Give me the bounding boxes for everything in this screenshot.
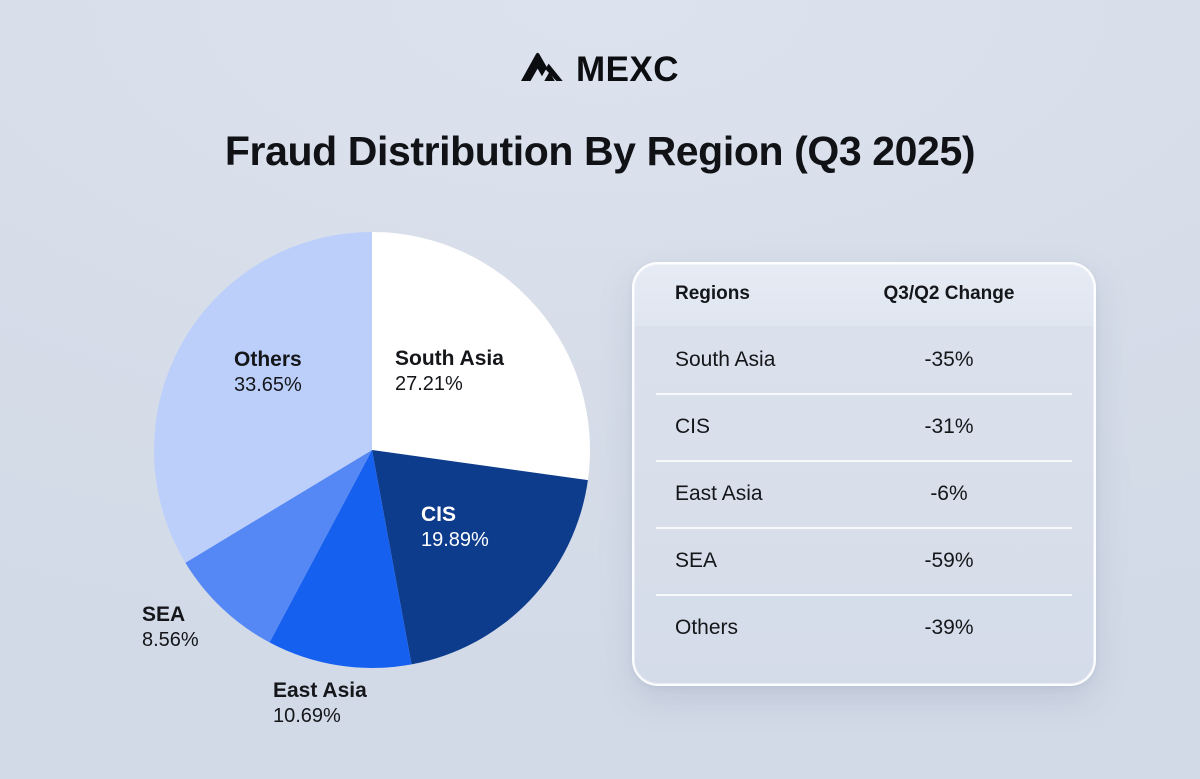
brand-wordmark: MEXC bbox=[576, 52, 679, 87]
pie-label-south-asia: South Asia 27.21% bbox=[395, 346, 504, 396]
table-column-header-regions: Regions bbox=[632, 283, 846, 305]
table-column-header-change: Q3/Q2 Change bbox=[846, 283, 1052, 305]
table-cell-change: -59% bbox=[846, 549, 1052, 573]
pie-label-east-asia-name: East Asia bbox=[273, 678, 367, 704]
table-cell-region: SEA bbox=[632, 549, 846, 573]
table-row: Others -39% bbox=[632, 594, 1096, 661]
pie-svg bbox=[152, 230, 592, 670]
pie-label-sea-value: 8.56% bbox=[142, 628, 199, 652]
pie-label-south-asia-value: 27.21% bbox=[395, 372, 504, 396]
fraud-distribution-pie-chart: South Asia 27.21% CIS 19.89% East Asia 1… bbox=[152, 230, 592, 670]
pie-label-cis-value: 19.89% bbox=[421, 528, 489, 552]
pie-label-sea: SEA 8.56% bbox=[142, 602, 199, 652]
table-cell-region: CIS bbox=[632, 415, 846, 439]
brand-header: MEXC bbox=[0, 52, 1200, 87]
table-cell-change: -6% bbox=[846, 482, 1052, 506]
page-title: Fraud Distribution By Region (Q3 2025) bbox=[0, 128, 1200, 175]
table-row: South Asia -35% bbox=[632, 326, 1096, 393]
table-body: South Asia -35% CIS -31% East Asia -6% S… bbox=[632, 326, 1096, 661]
table-cell-change: -39% bbox=[846, 616, 1052, 640]
pie-label-cis: CIS 19.89% bbox=[421, 502, 489, 552]
pie-label-sea-name: SEA bbox=[142, 602, 199, 628]
table-cell-change: -31% bbox=[846, 415, 1052, 439]
pie-label-others-name: Others bbox=[234, 347, 302, 373]
pie-label-others-value: 33.65% bbox=[234, 373, 302, 397]
table-cell-region: South Asia bbox=[632, 348, 846, 372]
table-row: East Asia -6% bbox=[632, 460, 1096, 527]
pie-label-south-asia-name: South Asia bbox=[395, 346, 504, 372]
table-cell-change: -35% bbox=[846, 348, 1052, 372]
table-header-row: Regions Q3/Q2 Change bbox=[632, 262, 1096, 326]
table-cell-region: Others bbox=[632, 616, 846, 640]
table-row: SEA -59% bbox=[632, 527, 1096, 594]
pie-label-east-asia: East Asia 10.69% bbox=[273, 678, 367, 728]
pie-label-others: Others 33.65% bbox=[234, 347, 302, 397]
table-cell-region: East Asia bbox=[632, 482, 846, 506]
pie-label-cis-name: CIS bbox=[421, 502, 489, 528]
mexc-mountain-mark-icon bbox=[521, 52, 563, 87]
region-change-table-card: Regions Q3/Q2 Change South Asia -35% CIS… bbox=[632, 262, 1096, 686]
table-row: CIS -31% bbox=[632, 393, 1096, 460]
pie-label-east-asia-value: 10.69% bbox=[273, 704, 367, 728]
